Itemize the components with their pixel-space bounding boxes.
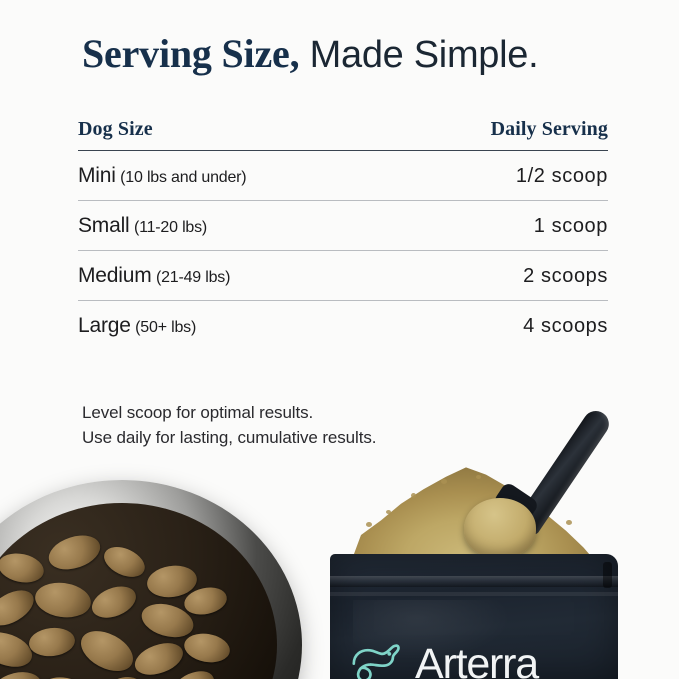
serving-size-table: Dog Size Daily Serving Mini (10 lbs and … [78, 118, 608, 350]
daily-serving-cell: 2 scoops [523, 265, 608, 288]
product-pouch: Arterra [330, 554, 618, 679]
table-row: Large (50+ lbs) 4 scoops [78, 301, 608, 350]
pouch-tear-notch [603, 562, 612, 588]
table-row: Small (11-20 lbs) 1 scoop [78, 201, 608, 251]
dog-size-range: (21-49 lbs) [156, 269, 230, 286]
dog-size-name: Small [78, 214, 130, 237]
dog-size-range: (50+ lbs) [135, 319, 196, 336]
dog-food-bowl-image [0, 480, 302, 679]
dog-size-name: Medium [78, 264, 152, 287]
pouch-seal-line [330, 592, 618, 596]
table-header-row: Dog Size Daily Serving [78, 118, 608, 151]
table-row: Medium (21-49 lbs) 2 scoops [78, 251, 608, 301]
table-row: Mini (10 lbs and under) 1/2 scoop [78, 151, 608, 201]
daily-serving-cell: 1 scoop [534, 215, 608, 238]
dog-head-icon [348, 637, 404, 679]
measuring-scoop [464, 498, 536, 558]
page-title-rest: Made Simple. [299, 34, 538, 76]
dog-size-cell: Small (11-20 lbs) [78, 214, 207, 238]
brand-name: Arterra [415, 644, 538, 679]
dog-size-cell: Medium (21-49 lbs) [78, 264, 230, 288]
pouch-zip-seal [330, 576, 618, 587]
dog-size-range: (11-20 lbs) [134, 219, 207, 236]
dog-size-cell: Mini (10 lbs and under) [78, 164, 246, 188]
page-title-emphasis: Serving Size, [82, 31, 299, 76]
product-photo-area: Arterra [0, 380, 679, 679]
dog-size-range: (10 lbs and under) [120, 169, 246, 186]
dog-size-name: Mini [78, 164, 116, 187]
serving-size-infographic: Serving Size, Made Simple. Dog Size Dail… [0, 0, 679, 679]
supplement-powder-image [346, 458, 596, 562]
brand-lockup: Arterra [348, 637, 538, 679]
column-header-daily-serving: Daily Serving [491, 118, 608, 141]
dog-size-cell: Large (50+ lbs) [78, 314, 196, 338]
daily-serving-cell: 4 scoops [523, 315, 608, 338]
page-title: Serving Size, Made Simple. [82, 34, 538, 74]
daily-serving-cell: 1/2 scoop [516, 165, 608, 188]
dog-size-name: Large [78, 314, 131, 337]
column-header-dog-size: Dog Size [78, 118, 153, 141]
